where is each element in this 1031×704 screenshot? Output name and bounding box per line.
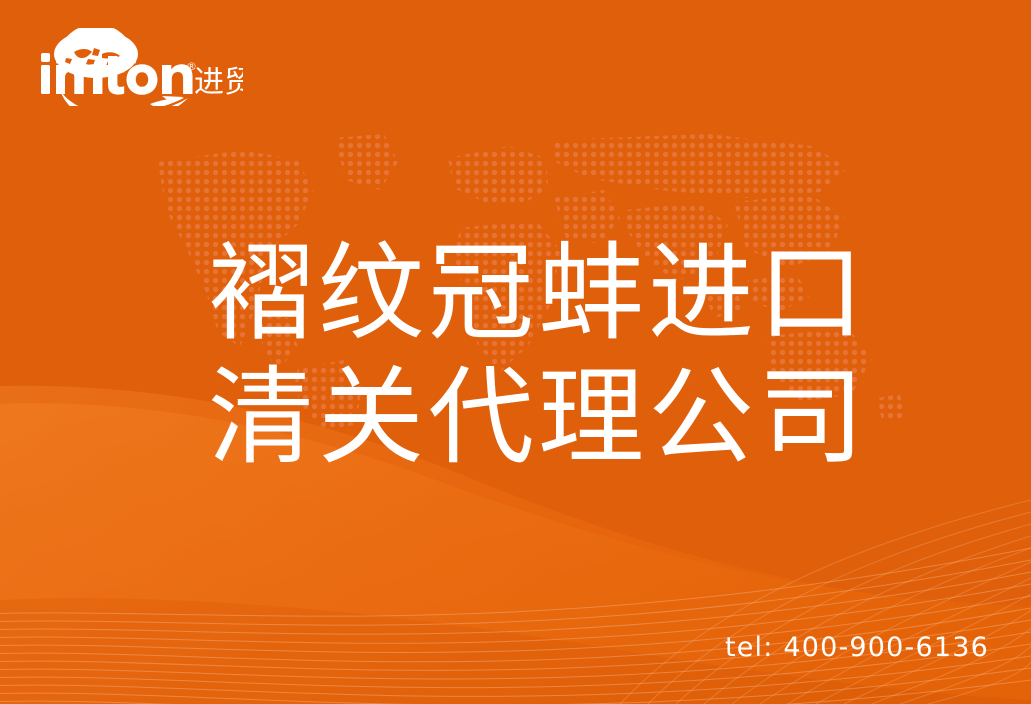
- contact-phone[interactable]: tel: 400-900-6136: [725, 632, 989, 663]
- logo-chinese-name: 进贸通: [194, 65, 243, 100]
- headline-line-1: 褶纹冠蚌进口: [208, 232, 868, 356]
- registered-trademark-icon: ®: [186, 60, 197, 73]
- headline-block: 褶纹冠蚌进口 清关代理公司: [208, 232, 868, 480]
- promo-banner: 进贸通 ® 褶纹冠蚌进口 清关代理公司 tel: 400-900-6136: [0, 0, 1031, 704]
- headline-line-2: 清关代理公司: [208, 356, 868, 480]
- imton-logo[interactable]: 进贸通 ®: [38, 28, 243, 106]
